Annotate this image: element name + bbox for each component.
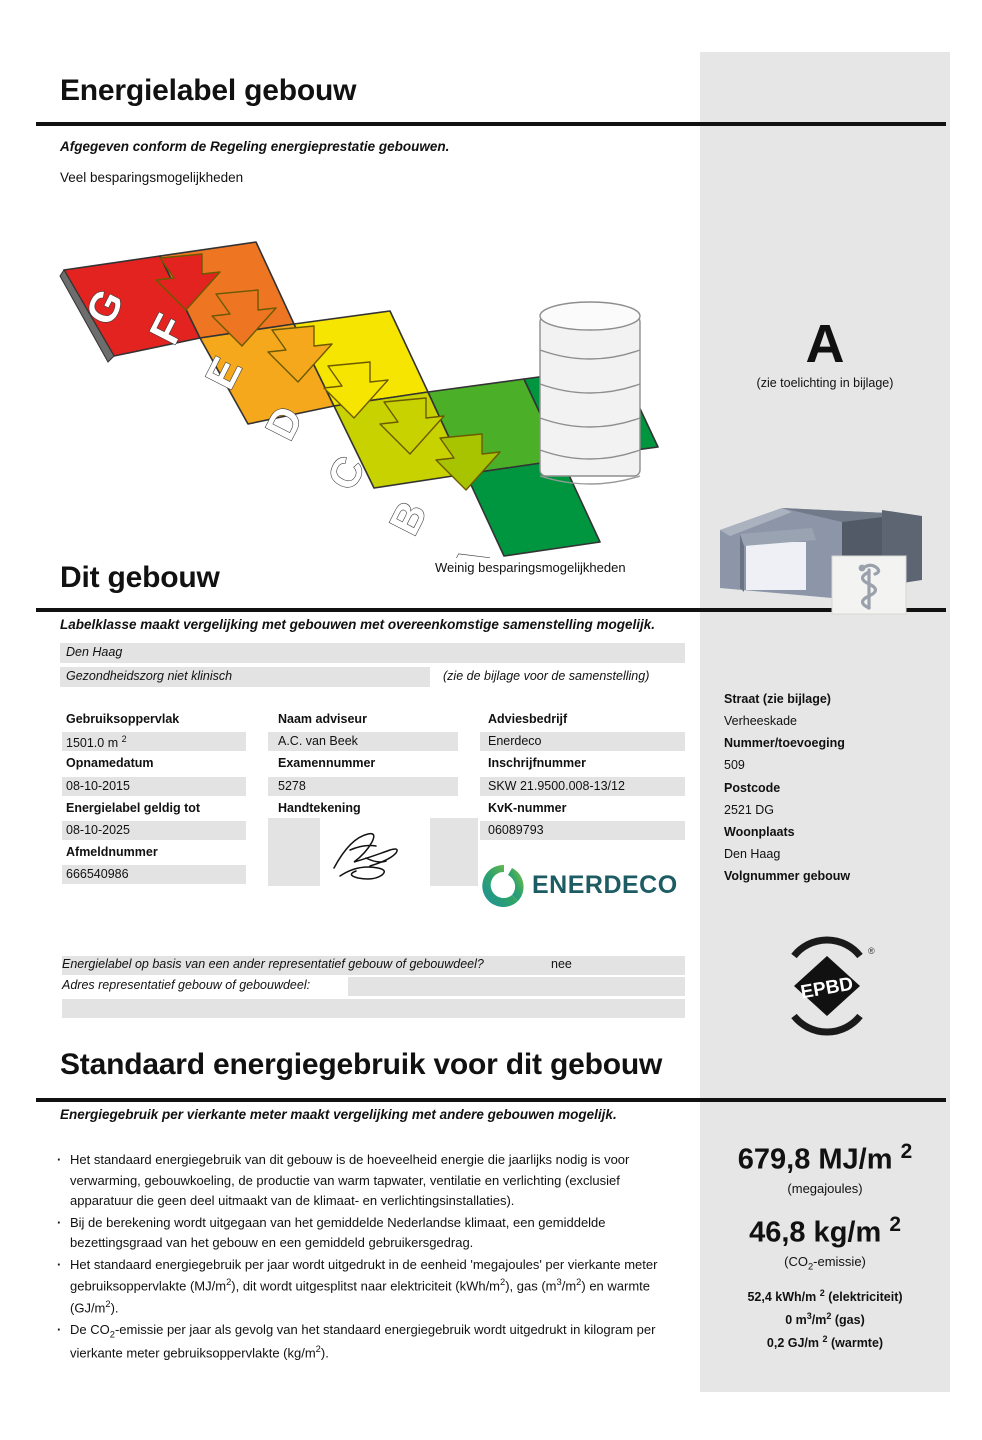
woonplaats-label: Woonplaats [724,821,944,843]
primary-figure-sup: 2 [901,1140,913,1163]
address-block: Straat (zie bijlage) Verheeskade Nummer/… [724,688,944,887]
adviesbedrijf-value: Enerdeco [488,734,542,748]
annex-note: (zie de bijlage voor de samenstelling) [443,669,649,683]
conform-line: Afgegeven conform de Regeling energiepre… [60,139,449,154]
examennummer-label: Examennummer [278,756,375,770]
straat-label: Straat (zie bijlage) [724,688,944,710]
enerdeco-wordmark: ENERDECO [532,871,678,900]
divider-top [36,122,946,126]
naam-adviseur-label: Naam adviseur [278,712,367,726]
much-savings-label: Veel besparingsmogelijkheden [60,170,243,185]
usage-bullet-list: Het standaard energiegebruik van dit geb… [54,1150,664,1365]
nummer-value: 509 [724,754,944,776]
gebruiksoppervlak-value: 1501.0 m 2 [66,734,127,750]
little-savings-label: Weinig besparingsmogelijkheden [435,560,626,575]
section-title-usage: Standaard energiegebruik voor dit gebouw [60,1048,662,1082]
city-band [60,643,685,663]
afmeldnummer-label: Afmeldnummer [66,845,158,859]
svg-text:®: ® [868,946,875,956]
energy-breakdown: 52,4 kWh/m 2 (elektriciteit) 0 m3/m2 (ga… [700,1286,950,1355]
enerdeco-logo: ENERDECO [480,862,690,910]
building-type-value: Gezondheidszorg niet klinisch [66,669,232,683]
examennummer-value: 5278 [278,779,306,793]
representative-address-label: Adres representatief gebouw of gebouwdee… [62,978,310,992]
secondary-figure: 46,8 kg/m 2 [700,1213,950,1250]
postcode-value: 2521 DG [724,799,944,821]
kvk-label: KvK-nummer [488,801,567,815]
list-item: Het standaard energiegebruik per jaar wo… [70,1255,664,1319]
geldig-tot-label: Energielabel geldig tot [66,801,200,815]
breakdown-heat: 0,2 GJ/m 2 (warmte) [700,1332,950,1355]
adviesbedrijf-label: Adviesbedrijf [488,712,567,726]
representative-answer: nee [551,957,572,971]
signature-canvas [320,818,430,886]
naam-adviseur-value: A.C. van Beek [278,734,358,748]
usage-subtitle: Energiegebruik per vierkante meter maakt… [60,1107,617,1122]
nummer-label: Nummer/toevoeging [724,732,944,754]
postcode-label: Postcode [724,777,944,799]
breakdown-electricity: 52,4 kWh/m 2 (elektriciteit) [700,1286,950,1309]
primary-figure: 679,8 MJ/m 2 [700,1140,950,1177]
section-title-building: Dit gebouw [60,561,220,595]
representative-question: Energielabel op basis van een ander repr… [62,957,484,971]
page-title: Energielabel gebouw [60,74,356,108]
primary-figure-value: 679,8 MJ/m [738,1144,893,1176]
inschrijfnummer-label: Inschrijfnummer [488,756,586,770]
opnamedatum-value: 08-10-2015 [66,779,130,793]
building-illustration [712,470,938,615]
divider-bottom [36,1098,946,1102]
epbd-logo: EPBD ® [772,934,882,1038]
woonplaats-value: Den Haag [724,843,944,865]
gebruiksoppervlak-unit: 2 [122,734,127,744]
breakdown-gas: 0 m3/m2 (gas) [700,1309,950,1332]
energy-label-page: Energielabel gebouw Afgegeven conform de… [0,0,982,1440]
inschrijfnummer-value: SKW 21.9500.008-13/12 [488,779,625,793]
secondary-figure-value: 46,8 kg/m [749,1217,881,1249]
volgnummer-label: Volgnummer gebouw [724,865,944,887]
gebruiksoppervlak-label: Gebruiksoppervlak [66,712,179,726]
secondary-figure-sup: 2 [889,1213,901,1236]
representative-address-band [348,977,685,996]
list-item: Bij de berekening wordt uitgegaan van he… [70,1213,664,1254]
primary-figure-note: (megajoules) [700,1181,950,1196]
geldig-tot-value: 08-10-2025 [66,823,130,837]
rating-note: (zie toelichting in bijlage) [700,376,950,390]
handtekening-label: Handtekening [278,801,361,815]
energy-label-scale-graphic: G F E D C B A [52,228,692,558]
rating-letter: A [700,317,950,371]
list-item: Het standaard energiegebruik van dit geb… [70,1150,664,1212]
building-subtitle: Labelklasse maakt vergelijking met gebou… [60,617,655,632]
representative-band-2 [62,999,685,1018]
secondary-figure-note: (CO2-emissie) [700,1254,950,1272]
list-item: De CO2-emissie per jaar als gevolg van h… [70,1320,664,1364]
city-value: Den Haag [66,645,122,659]
kvk-value: 06089793 [488,823,544,837]
opnamedatum-label: Opnamedatum [66,756,154,770]
gebruiksoppervlak-number: 1501.0 m [66,736,118,750]
afmeldnummer-value: 666540986 [66,867,129,881]
straat-value: Verheeskade [724,710,944,732]
